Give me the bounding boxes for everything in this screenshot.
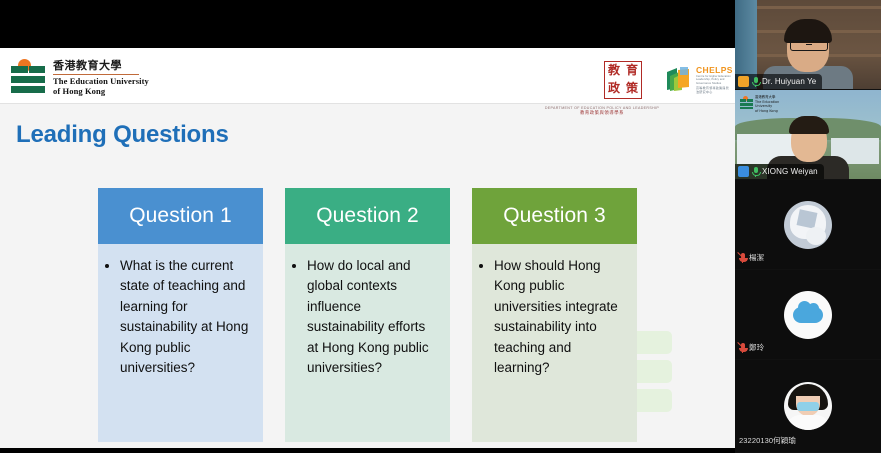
participant-2-name: XIONG Weiyan — [762, 167, 818, 176]
participant-4-name: 鄭玲 — [749, 342, 764, 353]
virtual-background-eduhk-logo-icon: 香港教育大學The Education Universityof Hong Ko… — [740, 95, 784, 111]
question-card-3-bullet: How should Hong Kong public universities… — [494, 256, 627, 378]
participant-5-name: 23220130何穎瑜 — [739, 435, 796, 446]
eduhk-name-cn: 香港教育大學 — [53, 60, 149, 72]
microphone-muted-icon — [739, 253, 746, 263]
participant-tile-2[interactable]: 香港教育大學The Education Universityof Hong Ko… — [735, 90, 881, 180]
participant-3-name: 楊潔 — [749, 252, 764, 263]
participant-1-nameplate: Dr. Huiyuan Ye — [735, 74, 822, 89]
question-card-3-body: How should Hong Kong public universities… — [472, 244, 637, 442]
chelps-wordmark: CHELPS — [696, 65, 733, 75]
eduhk-logo: 香港教育大學 The Education University of Hong … — [10, 59, 149, 96]
chelps-subtitle: Centre for Higher Education Leadership, … — [696, 75, 732, 85]
host-badge-icon — [738, 76, 749, 87]
chelps-logo: CHELPS Centre for Higher Education Leade… — [666, 62, 732, 94]
question-card-1-caption: Question 1 — [98, 188, 263, 244]
seal-char-2: 育 — [623, 62, 641, 80]
cohost-badge-icon — [738, 166, 749, 177]
page-title: Leading Questions — [16, 121, 229, 149]
seal-char-3: 政 — [605, 80, 623, 98]
slide-header-band: 香港教育大學 The Education University of Hong … — [0, 48, 735, 103]
participant-tile-1[interactable]: Dr. Huiyuan Ye — [735, 0, 881, 90]
microphone-muted-icon — [739, 343, 746, 353]
depl-caption: DEPARTMENT OF EDUCATION POLICY AND LEADE… — [542, 106, 662, 117]
participant-tile-5[interactable]: 23220130何穎瑜 — [735, 360, 881, 453]
participant-tile-4[interactable]: 鄭玲 — [735, 270, 881, 360]
question-card-group: Question 1 What is the current state of … — [98, 188, 638, 442]
eduhk-rule — [53, 74, 139, 75]
participant-1-name: Dr. Huiyuan Ye — [762, 77, 816, 86]
question-card-2-bullet: How do local and global contexts influen… — [307, 256, 440, 378]
seal-char-1: 教 — [605, 62, 623, 80]
chelps-book-icon — [666, 66, 696, 91]
shared-screen-stage: 香港教育大學 The Education University of Hong … — [0, 0, 735, 448]
microphone-on-icon — [752, 77, 759, 87]
presentation-slide: 香港教育大學 The Education University of Hong … — [0, 48, 735, 448]
question-card-2: Question 2 How do local and global conte… — [285, 188, 450, 442]
zoom-meeting-window: 香港教育大學 The Education University of Hong … — [0, 0, 881, 448]
participant-3-nameplate: 楊潔 — [739, 252, 764, 263]
depl-name-cn: 教育政策與領導學系 — [542, 111, 662, 117]
participant-5-avatar — [784, 382, 832, 430]
participant-video-strip[interactable]: Dr. Huiyuan Ye — [735, 0, 881, 448]
eduhk-logo-mark-icon — [10, 59, 46, 93]
question-card-2-caption: Question 2 — [285, 188, 450, 244]
chelps-subtitle-cn: 高等教育領導政策與管治研究中心 — [696, 86, 732, 94]
participant-5-nameplate: 23220130何穎瑜 — [739, 435, 796, 446]
eduhk-name-en-line2: of Hong Kong — [53, 87, 149, 97]
decorative-blocks — [632, 331, 672, 418]
question-card-1: Question 1 What is the current state of … — [98, 188, 263, 442]
header-divider — [0, 103, 735, 104]
seal-char-4: 策 — [623, 80, 641, 98]
depl-seal-icon: 教 育 政 策 — [604, 61, 642, 99]
participant-2-nameplate: XIONG Weiyan — [735, 164, 824, 179]
participant-tile-3[interactable]: 楊潔 — [735, 180, 881, 270]
participant-4-nameplate: 鄭玲 — [739, 342, 764, 353]
participant-3-avatar — [784, 201, 832, 249]
question-card-3: Question 3 How should Hong Kong public u… — [472, 188, 637, 442]
participant-4-avatar — [784, 291, 832, 339]
microphone-on-icon — [752, 167, 759, 177]
question-card-3-caption: Question 3 — [472, 188, 637, 244]
question-card-1-body: What is the current state of teaching an… — [98, 244, 263, 442]
question-card-2-body: How do local and global contexts influen… — [285, 244, 450, 442]
question-card-1-bullet: What is the current state of teaching an… — [120, 256, 253, 378]
